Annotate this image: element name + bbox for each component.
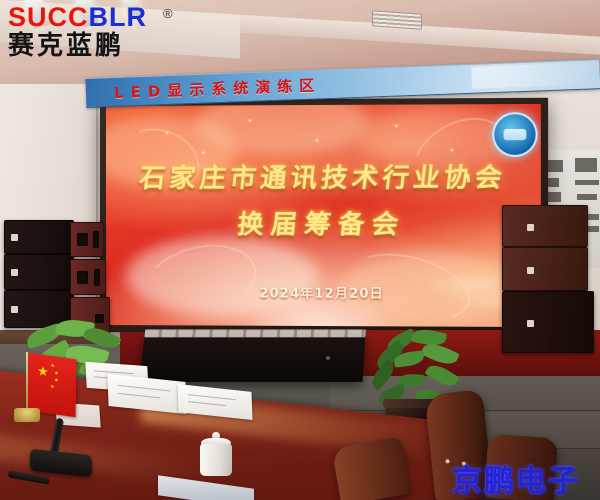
- board-panel: [577, 194, 597, 200]
- speaker-cabinet: [4, 220, 74, 254]
- paper-line: [118, 385, 170, 391]
- speaker-cabinet: [502, 205, 588, 247]
- speaker-cabinet: [502, 247, 588, 291]
- logo-blr: BLR: [89, 2, 148, 32]
- ceiling-air-vent-icon: [372, 10, 422, 29]
- speaker-cabinet: [4, 254, 74, 290]
- flag-star-small: ★: [54, 378, 59, 384]
- speaker-badge: [11, 306, 18, 313]
- teacup-body: [200, 444, 232, 476]
- flag-star-small: ★: [54, 371, 59, 377]
- podium-metal-edge: [144, 329, 365, 337]
- led-content: 石家庄市通讯技术行业协会 换届筹备会 2024年12月20日: [106, 104, 541, 327]
- banner-gloss: [471, 62, 592, 88]
- speaker-badge: [11, 269, 18, 276]
- paper-line: [188, 394, 236, 400]
- speaker-badge: [527, 320, 534, 327]
- speaker-cabinet-red: [70, 222, 104, 257]
- logo-english: SUCCBLR: [8, 4, 147, 31]
- sparkle: [202, 152, 204, 154]
- registered-trademark-icon: ®: [163, 6, 173, 21]
- led-display-screen: 石家庄市通讯技术行业协会 换届筹备会 2024年12月20日: [100, 98, 548, 334]
- photo-scene: LED显示系统演练区 SUCCBLR ® 赛克蓝鹏: [0, 0, 600, 500]
- speaker-badge: [527, 267, 534, 274]
- emblem-core: [504, 129, 527, 140]
- speaker-port: [77, 233, 88, 246]
- left-speaker-stack: [4, 220, 74, 328]
- speaker-port: [93, 231, 99, 248]
- speaker-port: [77, 271, 88, 284]
- association-emblem-icon: [492, 112, 538, 157]
- right-speaker-stack: [502, 205, 594, 353]
- watermark-text: 京鹏电子: [452, 456, 580, 500]
- sparkle: [395, 125, 397, 127]
- podium-indicator: [326, 356, 330, 360]
- flag-star-large: ★: [37, 364, 49, 379]
- leaf: [424, 361, 459, 391]
- flag-star-small: ★: [50, 364, 55, 370]
- speaker-cabinet: [502, 291, 594, 353]
- flag-star-small: ★: [50, 385, 55, 391]
- brand-logo: SUCCBLR ® 赛克蓝鹏: [8, 4, 147, 60]
- sparkle: [316, 139, 318, 141]
- sparkle: [166, 132, 168, 134]
- led-title: 石家庄市通讯技术行业协会: [106, 157, 541, 195]
- logo-succ: SUCC: [8, 2, 89, 32]
- paper-line: [188, 401, 226, 406]
- flag-base: [14, 408, 40, 422]
- equipment-podium: [139, 334, 365, 382]
- speaker-cabinet-red: [70, 259, 106, 295]
- teacup: [200, 432, 232, 476]
- paper-line: [118, 393, 160, 398]
- banner-text: LED显示系统演练区: [114, 74, 322, 103]
- board-panel: [575, 158, 597, 172]
- speaker-badge: [527, 224, 534, 231]
- logo-chinese: 赛克蓝鹏: [8, 33, 147, 60]
- speaker-badge: [11, 234, 18, 241]
- speaker-port: [94, 269, 100, 286]
- chair-stud: [445, 459, 449, 463]
- sparkle: [451, 149, 453, 151]
- flag-pole: [26, 352, 28, 412]
- sparkle: [249, 119, 251, 121]
- board-panel: [575, 180, 599, 185]
